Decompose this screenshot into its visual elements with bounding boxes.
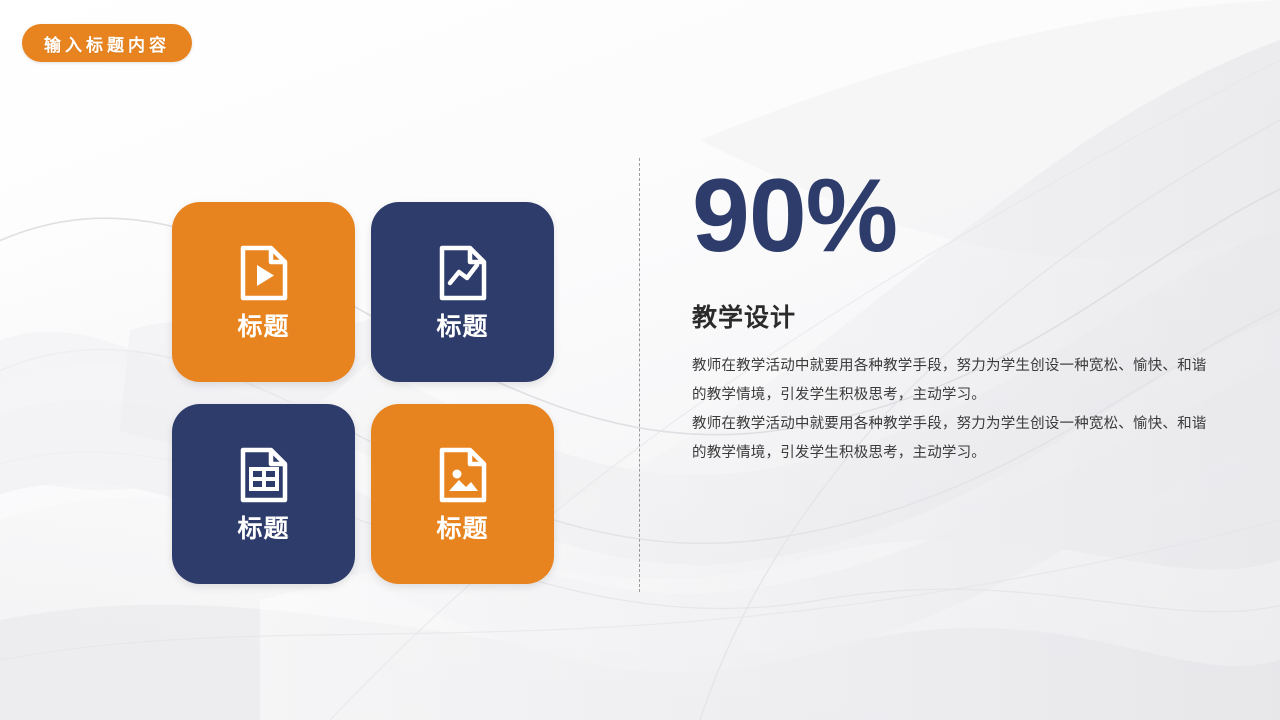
feature-tile-label: 标题 (237, 517, 289, 542)
document-image-icon (437, 447, 489, 503)
statistic-panel: 90% 教学设计 教师在教学活动中就要用各种教学手段，努力为学生创设一种宽松、愉… (692, 160, 1212, 468)
feature-tile-1[interactable]: 标题 (172, 202, 355, 382)
slide-canvas: 输入标题内容 标题 标题 (0, 0, 1280, 720)
statistic-heading: 教学设计 (692, 298, 1212, 334)
vertical-dashed-divider (639, 158, 640, 592)
document-table-icon (238, 447, 290, 503)
feature-tile-label: 标题 (436, 315, 488, 340)
slide-title-text: 输入标题内容 (44, 31, 170, 56)
feature-tile-3[interactable]: 标题 (172, 404, 355, 584)
statistic-value: 90% (692, 160, 1212, 272)
feature-tile-2[interactable]: 标题 (371, 202, 554, 382)
body-paragraph: 教师在教学活动中就要用各种教学手段，努力为学生创设一种宽松、愉快、和谐的教学情境… (692, 410, 1212, 468)
statistic-body-text: 教师在教学活动中就要用各种教学手段，努力为学生创设一种宽松、愉快、和谐的教学情境… (692, 352, 1212, 468)
slide-title-badge: 输入标题内容 (22, 24, 192, 62)
feature-tile-label: 标题 (436, 517, 488, 542)
feature-tile-4[interactable]: 标题 (371, 404, 554, 584)
feature-tile-grid: 标题 标题 标题 (172, 202, 554, 584)
document-chart-icon (437, 245, 489, 301)
document-video-icon (238, 245, 290, 301)
body-paragraph: 教师在教学活动中就要用各种教学手段，努力为学生创设一种宽松、愉快、和谐的教学情境… (692, 352, 1212, 410)
feature-tile-label: 标题 (237, 315, 289, 340)
